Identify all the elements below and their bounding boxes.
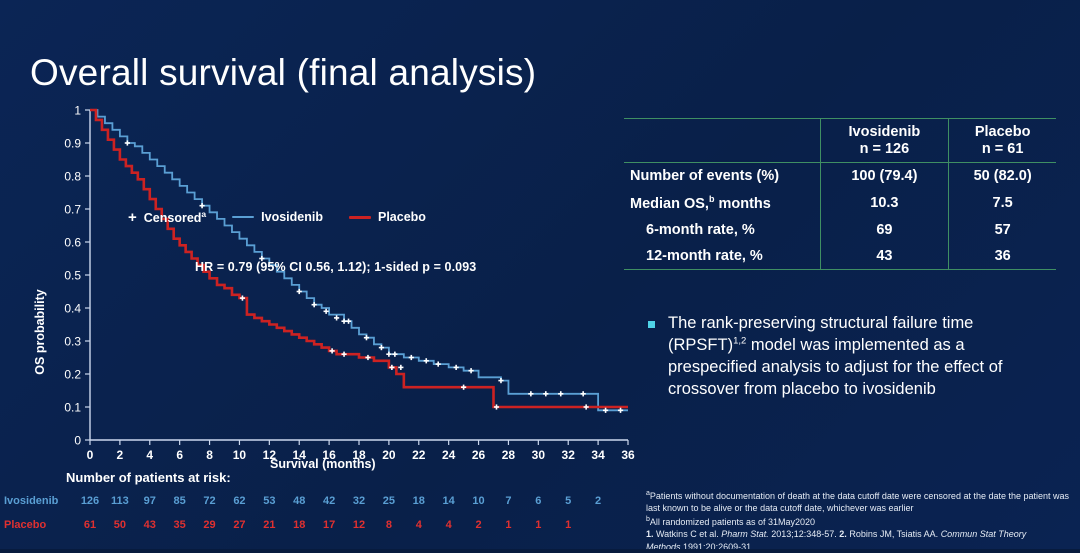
cell-ivosidenib: 100 (79.4) (820, 163, 949, 190)
cell-placebo: 7.5 (949, 189, 1056, 217)
risk-value: 29 (197, 519, 223, 531)
risk-value: 7 (495, 495, 521, 507)
risk-value: 4 (436, 519, 462, 531)
cell-placebo: 57 (949, 217, 1056, 243)
bullet-text: The rank-preserving structural failure t… (668, 312, 1052, 400)
svg-text:22: 22 (412, 448, 426, 462)
svg-text:20: 20 (382, 448, 396, 462)
risk-value: 50 (107, 519, 133, 531)
svg-text:26: 26 (472, 448, 486, 462)
footnotes: aPatients without documentation of death… (646, 489, 1070, 553)
results-table-head: Ivosidenib n = 126 Placebo n = 61 (624, 119, 1056, 163)
x-axis-label: Survival (months) (270, 457, 376, 471)
slide-root: Overall survival (final analysis) 00.10.… (0, 0, 1080, 553)
risk-value: 48 (286, 495, 312, 507)
risk-value: 18 (286, 519, 312, 531)
svg-text:36: 36 (621, 448, 635, 462)
row-label: 6-month rate, % (624, 217, 820, 243)
cell-ivosidenib: 10.3 (820, 189, 949, 217)
risk-value: 62 (226, 495, 252, 507)
risk-table-title: Number of patients at risk: (66, 470, 231, 485)
table-row: Median OS,b months10.37.5 (624, 189, 1056, 217)
risk-value: 8 (376, 519, 402, 531)
risk-value: 35 (167, 519, 193, 531)
header-blank (624, 119, 820, 163)
row-label: 12-month rate, % (624, 243, 820, 270)
legend-item-ivosidenib: Ivosidenib (232, 210, 323, 224)
risk-value: 5 (555, 495, 581, 507)
line-swatch-icon (349, 216, 371, 219)
legend-item-placebo: Placebo (349, 210, 426, 224)
svg-text:0: 0 (74, 434, 81, 448)
risk-value: 53 (256, 495, 282, 507)
cell-ivosidenib: 69 (820, 217, 949, 243)
page-title: Overall survival (final analysis) (30, 52, 536, 94)
results-table-body: Number of events (%)100 (79.4)50 (82.0)M… (624, 163, 1056, 270)
header-placebo: Placebo n = 61 (949, 119, 1056, 163)
svg-text:2: 2 (117, 448, 124, 462)
risk-value: 1 (495, 519, 521, 531)
square-bullet-icon (648, 321, 655, 328)
risk-value: 21 (256, 519, 282, 531)
risk-value: 27 (226, 519, 252, 531)
svg-text:28: 28 (502, 448, 516, 462)
svg-text:24: 24 (442, 448, 456, 462)
y-axis-label: OS probability (33, 272, 47, 392)
header-ivosidenib: Ivosidenib n = 126 (820, 119, 949, 163)
line-swatch-icon (232, 216, 254, 218)
risk-value: 1 (525, 519, 551, 531)
legend-item-censored: + Censoreda (128, 209, 206, 225)
risk-value: 1 (555, 519, 581, 531)
svg-text:4: 4 (146, 448, 153, 462)
footnote-a: aPatients without documentation of death… (646, 489, 1070, 515)
table-row: 6-month rate, %6957 (624, 217, 1056, 243)
svg-text:10: 10 (233, 448, 247, 462)
svg-text:0.7: 0.7 (64, 203, 81, 217)
svg-text:0.6: 0.6 (64, 236, 81, 250)
risk-value: 10 (466, 495, 492, 507)
legend-label-ivosidenib: Ivosidenib (261, 210, 323, 224)
svg-text:32: 32 (562, 448, 576, 462)
risk-value: 113 (107, 495, 133, 507)
bullet-point: The rank-preserving structural failure t… (648, 312, 1052, 400)
svg-text:1: 1 (74, 104, 81, 118)
risk-value: 126 (77, 495, 103, 507)
risk-value: 18 (406, 495, 432, 507)
bottom-bar (0, 549, 1080, 553)
row-label: Number of events (%) (624, 163, 820, 190)
risk-value: 43 (137, 519, 163, 531)
table-header-row: Ivosidenib n = 126 Placebo n = 61 (624, 119, 1056, 163)
risk-value: 97 (137, 495, 163, 507)
table-row: Number of events (%)100 (79.4)50 (82.0) (624, 163, 1056, 190)
svg-text:0.9: 0.9 (64, 137, 81, 151)
results-table: Ivosidenib n = 126 Placebo n = 61 Number… (624, 118, 1056, 270)
risk-value: 17 (316, 519, 342, 531)
hazard-ratio-annotation: HR = 0.79 (95% CI 0.56, 1.12); 1-sided p… (195, 260, 476, 274)
svg-text:0.8: 0.8 (64, 170, 81, 184)
plus-icon: + (128, 210, 137, 225)
risk-value: 25 (376, 495, 402, 507)
cell-placebo: 50 (82.0) (949, 163, 1056, 190)
kaplan-meier-plot: 00.10.20.30.40.50.60.70.80.9102468101214… (0, 95, 640, 475)
table-row: 12-month rate, %4336 (624, 243, 1056, 270)
risk-value: 85 (167, 495, 193, 507)
footnote-b: bAll randomized patients as of 31May2020 (646, 515, 1070, 528)
svg-text:0.2: 0.2 (64, 368, 81, 382)
svg-text:34: 34 (591, 448, 605, 462)
risk-value: 2 (585, 495, 611, 507)
row-label: Median OS,b months (624, 189, 820, 217)
risk-value: 42 (316, 495, 342, 507)
risk-value: 61 (77, 519, 103, 531)
svg-text:6: 6 (176, 448, 183, 462)
risk-value: 72 (197, 495, 223, 507)
risk-row-label: Placebo (4, 519, 74, 531)
risk-value: 4 (406, 519, 432, 531)
svg-text:8: 8 (206, 448, 213, 462)
survival-chart: 00.10.20.30.40.50.60.70.80.9102468101214… (0, 95, 640, 475)
legend-label-censored: Censoreda (144, 209, 206, 225)
svg-text:0.1: 0.1 (64, 401, 81, 415)
cell-placebo: 36 (949, 243, 1056, 270)
risk-row-label: Ivosidenib (4, 495, 74, 507)
risk-value: 32 (346, 495, 372, 507)
risk-value: 6 (525, 495, 551, 507)
svg-text:0: 0 (87, 448, 94, 462)
risk-value: 2 (466, 519, 492, 531)
risk-value: 14 (436, 495, 462, 507)
chart-legend: + Censoreda Ivosidenib Placebo (128, 209, 426, 225)
svg-text:30: 30 (532, 448, 546, 462)
legend-label-placebo: Placebo (378, 210, 426, 224)
svg-text:0.4: 0.4 (64, 302, 81, 316)
svg-text:0.3: 0.3 (64, 335, 81, 349)
risk-value: 12 (346, 519, 372, 531)
cell-ivosidenib: 43 (820, 243, 949, 270)
svg-text:0.5: 0.5 (64, 269, 81, 283)
